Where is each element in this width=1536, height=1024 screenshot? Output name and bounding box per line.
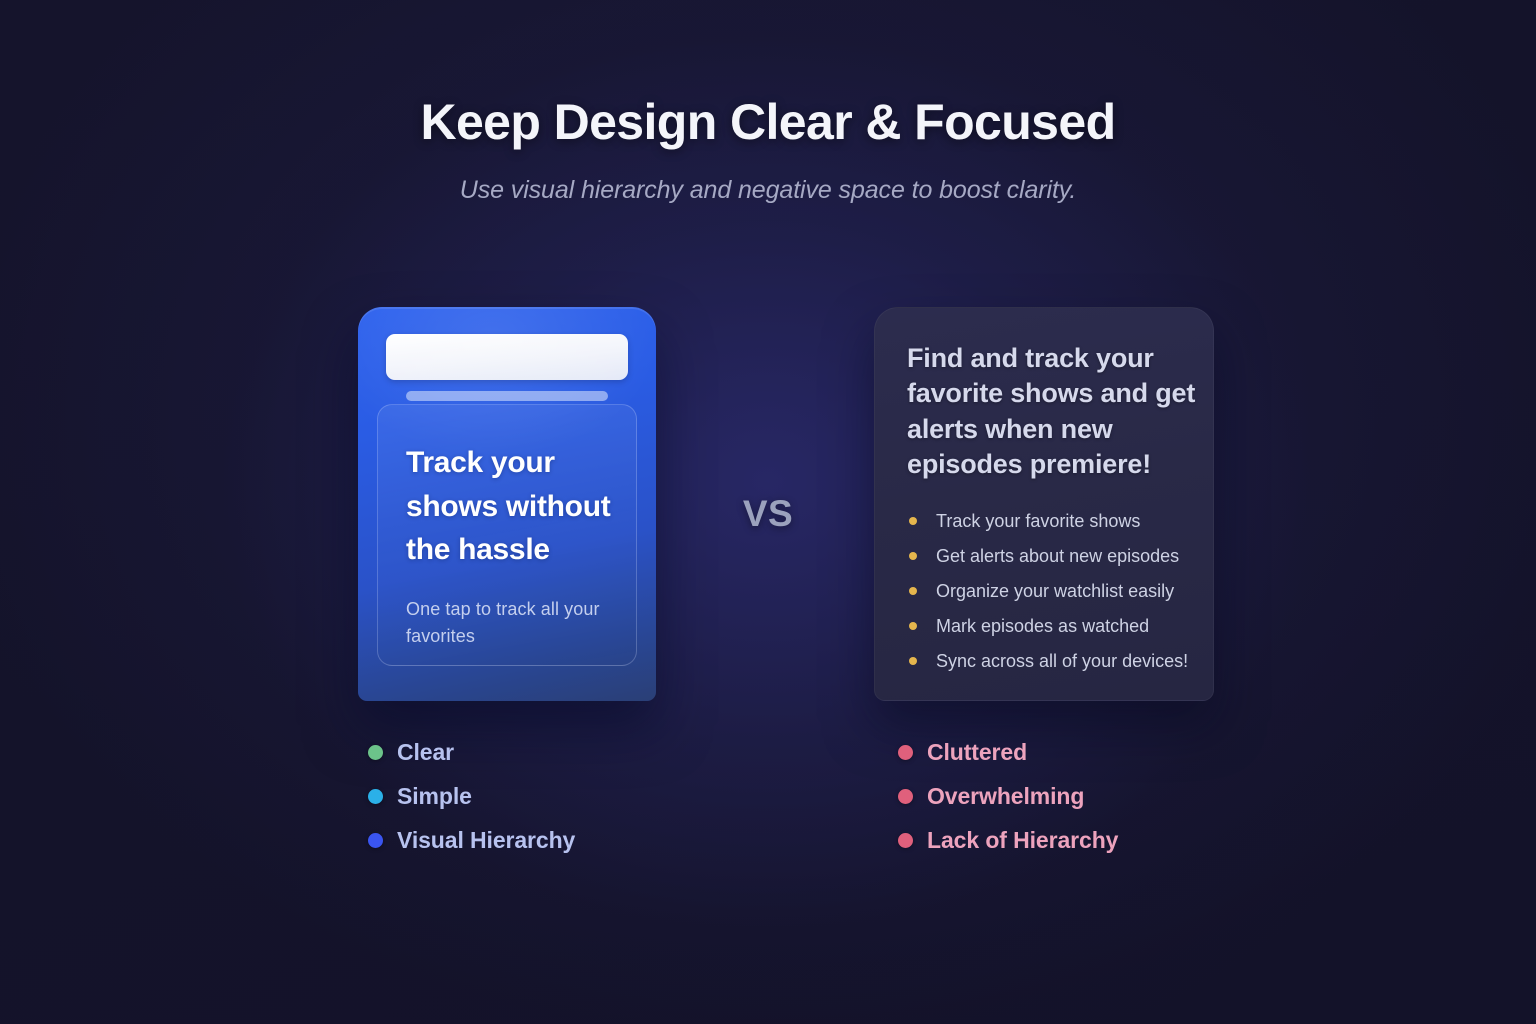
list-item-label: Track your favorite shows <box>936 511 1140 531</box>
tag-row-cluttered: Cluttered <box>898 730 1118 774</box>
list-item-label: Organize your watchlist easily <box>936 581 1174 601</box>
list-item: Sync across all of your devices! <box>907 652 1237 670</box>
tag-label: Clear <box>397 739 454 766</box>
tag-label: Cluttered <box>927 739 1027 766</box>
page-subtitle: Use visual hierarchy and negative space … <box>0 175 1536 205</box>
bad-card-feature-list: Track your favorite shows Get alerts abo… <box>907 512 1237 670</box>
list-item: Mark episodes as watched <box>907 617 1237 635</box>
status-dot-icon <box>368 745 383 760</box>
good-card-heading: Track your shows without the hassle <box>406 441 612 572</box>
status-dot-icon <box>898 789 913 804</box>
tag-row-visual-hierarchy: Visual Hierarchy <box>368 818 575 862</box>
vs-divider-label: VS <box>706 493 830 535</box>
list-item-label: Get alerts about new episodes <box>936 546 1179 566</box>
bullet-dot-icon <box>909 622 917 630</box>
tag-label: Overwhelming <box>927 783 1084 810</box>
good-card-subtext: One tap to track all your favorites <box>406 596 612 652</box>
tag-row-clear: Clear <box>368 730 575 774</box>
status-dot-icon <box>368 833 383 848</box>
page-title: Keep Design Clear & Focused <box>0 96 1536 149</box>
status-dot-icon <box>898 833 913 848</box>
bad-card-heading: Find and track your favorite shows and g… <box>907 341 1219 482</box>
list-item: Get alerts about new episodes <box>907 547 1237 565</box>
bullet-dot-icon <box>909 517 917 525</box>
bad-example-card[interactable]: Find and track your favorite shows and g… <box>874 307 1214 701</box>
list-item-label: Mark episodes as watched <box>936 616 1149 636</box>
list-item: Organize your watchlist easily <box>907 582 1237 600</box>
bullet-dot-icon <box>909 587 917 595</box>
bullet-dot-icon <box>909 657 917 665</box>
header: Keep Design Clear & Focused Use visual h… <box>0 96 1536 205</box>
list-item: Track your favorite shows <box>907 512 1237 530</box>
comparison-row: Track your shows without the hassle One … <box>0 307 1536 707</box>
good-card-inner-panel: Track your shows without the hassle One … <box>377 404 637 666</box>
tag-row-lack-of-hierarchy: Lack of Hierarchy <box>898 818 1118 862</box>
slide-canvas: Keep Design Clear & Focused Use visual h… <box>0 0 1536 1024</box>
placeholder-bar-icon <box>386 334 628 380</box>
good-example-card[interactable]: Track your shows without the hassle One … <box>358 307 656 701</box>
list-item-label: Sync across all of your devices! <box>936 651 1188 671</box>
good-tag-column: Clear Simple Visual Hierarchy <box>368 730 575 862</box>
placeholder-subbar-icon <box>406 391 608 401</box>
bad-tag-column: Cluttered Overwhelming Lack of Hierarchy <box>898 730 1118 862</box>
tag-label: Simple <box>397 783 472 810</box>
tag-columns: Clear Simple Visual Hierarchy Cluttered … <box>0 730 1536 870</box>
bullet-dot-icon <box>909 552 917 560</box>
status-dot-icon <box>898 745 913 760</box>
status-dot-icon <box>368 789 383 804</box>
tag-label: Lack of Hierarchy <box>927 827 1118 854</box>
tag-row-overwhelming: Overwhelming <box>898 774 1118 818</box>
tag-label: Visual Hierarchy <box>397 827 575 854</box>
tag-row-simple: Simple <box>368 774 575 818</box>
